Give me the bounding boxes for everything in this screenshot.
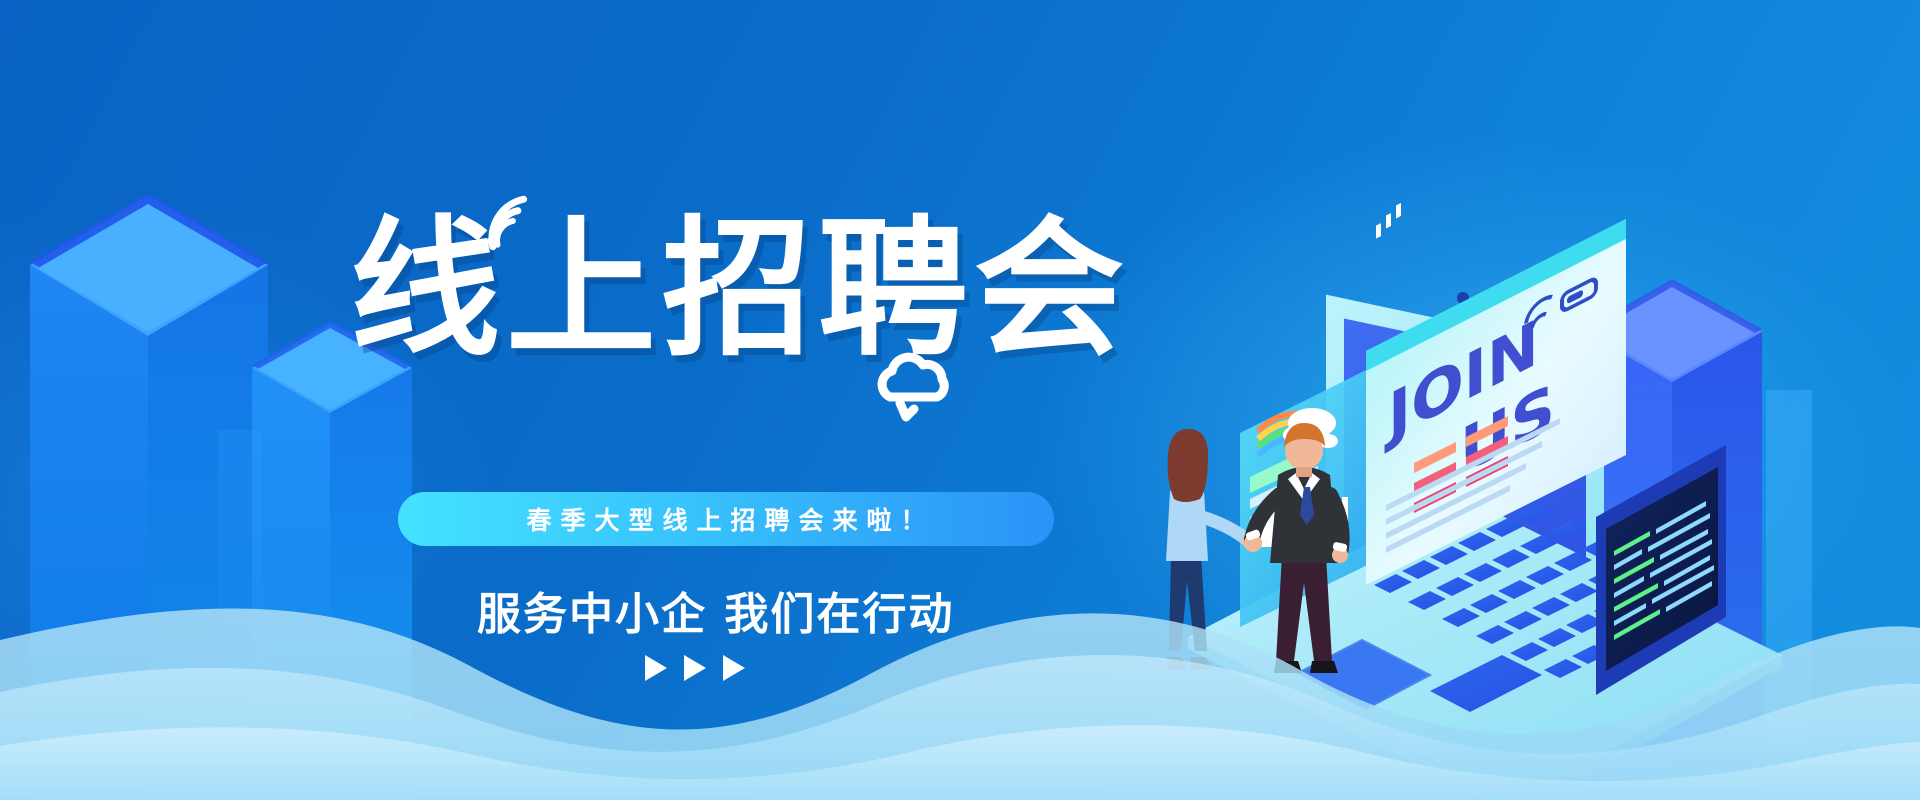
- title-block: 线上招聘会: [350, 215, 1250, 365]
- online-job-fair-banner: 线上招聘会 春季大型线上招聘会来啦！ 服务中小企 我们在行动: [0, 0, 1920, 800]
- wifi-signal-icon: [478, 193, 538, 251]
- subtitle-pill: 春季大型线上招聘会来啦！: [398, 492, 1054, 546]
- subtitle-pill-text: 春季大型线上招聘会来啦！: [517, 501, 934, 537]
- bottom-wave-decoration: [0, 570, 1920, 800]
- cloud-icon: [870, 351, 956, 423]
